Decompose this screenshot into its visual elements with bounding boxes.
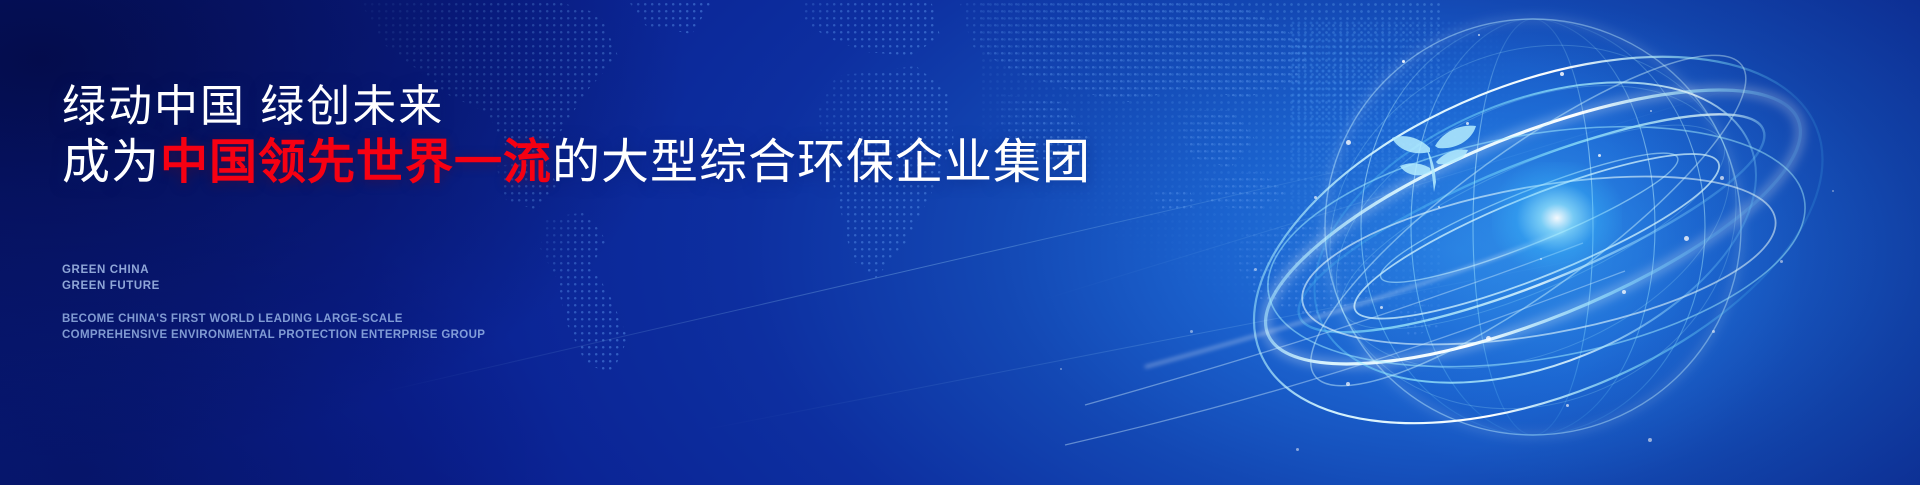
tagline-english: GREEN CHINA GREEN FUTURE: [62, 262, 160, 295]
banner-copy: 绿动中国 绿创未来 成为中国领先世界一流的大型综合环保企业集团 GREEN CH…: [62, 0, 1162, 485]
headline-line-2: 成为中国领先世界一流的大型综合环保企业集团: [62, 136, 1091, 190]
subtitle-line-2: COMPREHENSIVE ENVIRONMENTAL PROTECTION E…: [62, 327, 485, 343]
hero-banner: 绿动中国 绿创未来 成为中国领先世界一流的大型综合环保企业集团 GREEN CH…: [0, 0, 1920, 485]
tagline-line-1: GREEN CHINA: [62, 262, 160, 278]
tagline-line-2: GREEN FUTURE: [62, 278, 160, 294]
headline-suffix: 的大型综合环保企业集团: [552, 136, 1091, 189]
headline-accent: 中国领先世界一流: [160, 136, 552, 189]
subtitle-line-1: BECOME CHINA'S FIRST WORLD LEADING LARGE…: [62, 311, 485, 327]
headline-prefix: 成为: [62, 136, 160, 189]
subtitle-english: BECOME CHINA'S FIRST WORLD LEADING LARGE…: [62, 311, 485, 344]
headline-line-1: 绿动中国 绿创未来: [62, 82, 444, 131]
